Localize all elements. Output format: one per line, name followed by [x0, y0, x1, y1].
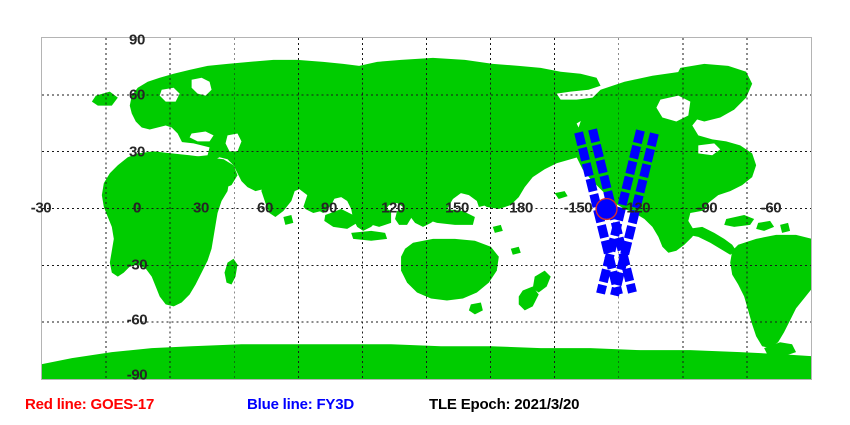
legend-footer: Red line: GOES-17 Blue line: FY3D TLE Ep…	[0, 396, 850, 420]
land-sri-lanka	[283, 215, 293, 225]
lon-label-minus90: -90	[697, 200, 717, 217]
lon-label-minus60: -60	[761, 200, 781, 217]
land-hawaii	[555, 191, 568, 199]
legend-blue-line-fy3d: Blue line: FY3D	[247, 396, 354, 413]
lat-label-90: 90	[129, 32, 145, 49]
lon-label-120: 120	[381, 200, 405, 217]
lon-label-180: 180	[509, 200, 533, 217]
world-map-svg	[42, 38, 811, 379]
lon-label-60: 60	[257, 200, 273, 217]
lon-label-minus30: -30	[31, 200, 51, 217]
legend-tle-epoch: TLE Epoch: 2021/3/20	[429, 396, 579, 413]
lat-label-minus30: -30	[127, 257, 147, 274]
lon-label-30: 30	[193, 200, 209, 217]
lon-label-minus150: -150	[564, 200, 592, 217]
legend-red-line-goes17: Red line: GOES-17	[25, 396, 154, 413]
lat-label-0: 0	[133, 200, 141, 217]
land-pacific-islet-a	[493, 225, 503, 233]
lon-label-90: 90	[321, 200, 337, 217]
lat-label-minus60: -60	[127, 312, 147, 329]
land-tasmania	[469, 302, 483, 314]
land-java	[351, 231, 387, 241]
lat-label-60: 60	[129, 87, 145, 104]
land-fiji	[511, 247, 521, 255]
land-south-america	[730, 235, 811, 348]
land-madagascar	[225, 259, 238, 285]
land-hispaniola	[756, 221, 774, 231]
lon-label-minus120: -120	[622, 200, 650, 217]
land-iceland	[92, 92, 118, 106]
lat-label-minus90: -90	[127, 367, 147, 384]
land-new-zealand	[533, 271, 551, 293]
lat-label-30: 30	[129, 144, 145, 161]
lon-label-150: 150	[445, 200, 469, 217]
land-lesser-antilles	[780, 223, 790, 233]
land-australia	[401, 239, 499, 301]
